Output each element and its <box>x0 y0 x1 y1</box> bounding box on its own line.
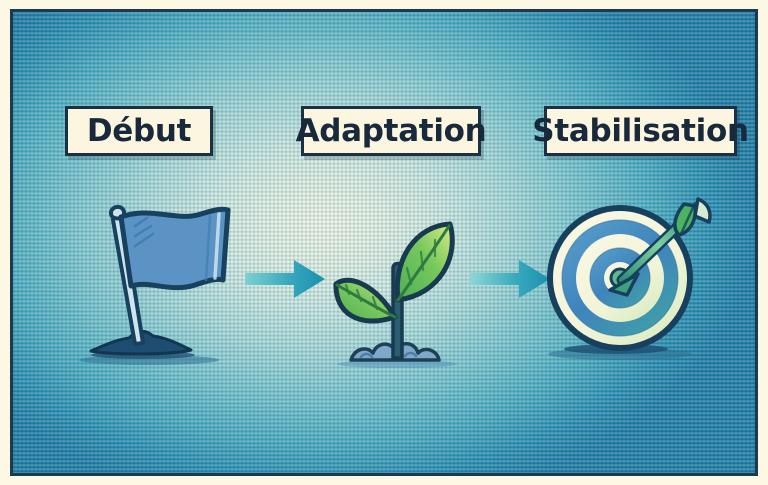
step-label-box-3[interactable]: Stabilisation <box>544 106 737 156</box>
arrow-right-icon-1 <box>245 256 327 302</box>
sprout-icon <box>331 212 476 378</box>
step-label-box-1[interactable]: Début <box>65 106 213 156</box>
content-layer: Début Adaptation Stabilisation <box>13 12 755 473</box>
step-label-box-2[interactable]: Adaptation <box>301 106 481 156</box>
step-label-text-2: Adaptation <box>296 116 487 147</box>
flag-icon <box>73 188 233 378</box>
step-label-text-1: Début <box>87 116 191 147</box>
target-arrow-icon <box>548 194 718 372</box>
infographic-root: Début Adaptation Stabilisation <box>0 0 768 485</box>
framed-canvas: Début Adaptation Stabilisation <box>10 9 758 476</box>
arrow-right-icon-2 <box>470 256 552 302</box>
step-label-text-3: Stabilisation <box>532 116 748 147</box>
